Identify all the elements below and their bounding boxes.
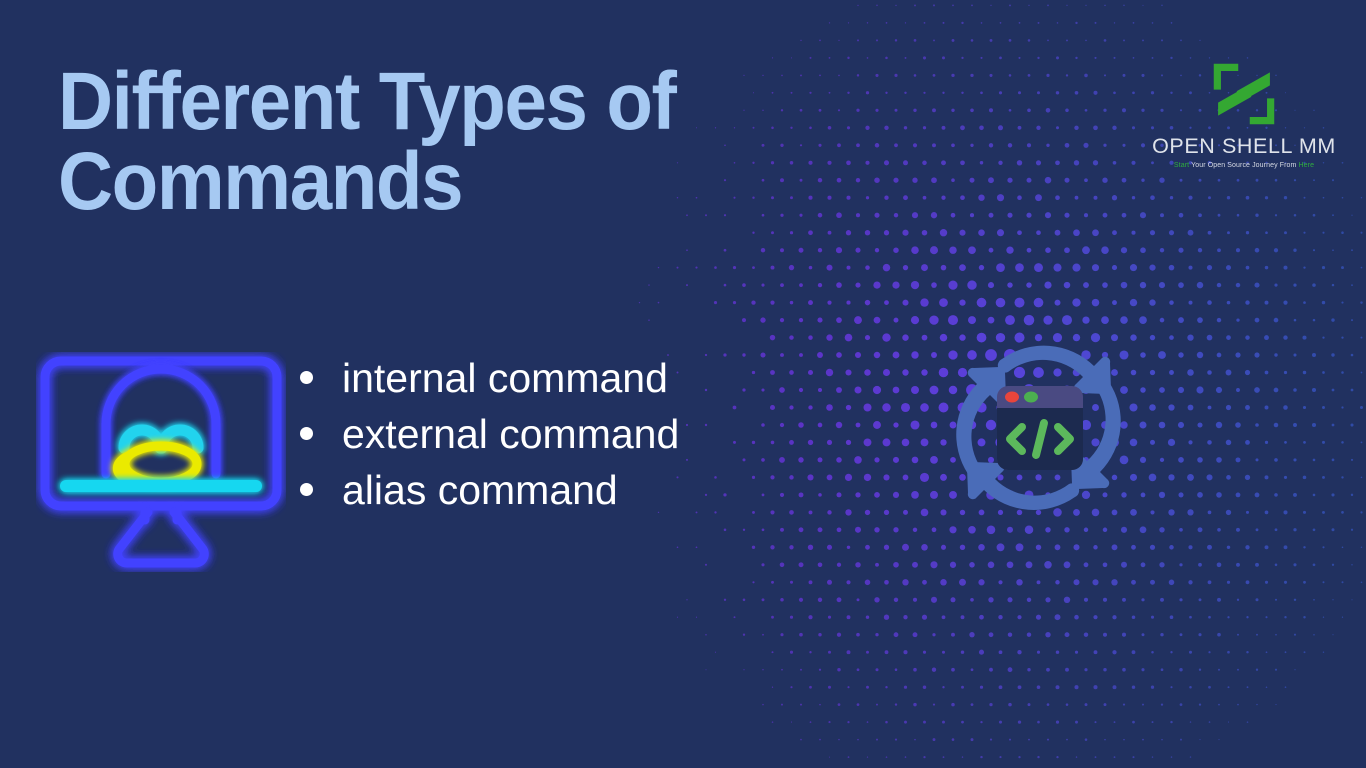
list-item: internal command (300, 358, 679, 414)
code-window-refresh-icon (944, 338, 1134, 518)
slide-canvas: Different Types of Commands internal com… (0, 0, 1366, 768)
brand-logo-block: OPEN SHELL MM Start Your Open Source Jou… (1144, 58, 1344, 169)
bullet-marker-icon (300, 371, 313, 384)
page-title: Different Types of Commands (58, 62, 938, 221)
list-item-label: alias command (342, 470, 618, 511)
brand-tagline-part-start: Start (1174, 162, 1189, 169)
bullet-marker-icon (300, 483, 313, 496)
page-title-line-1: Different Types of (58, 62, 876, 142)
list-item: external command (300, 414, 679, 470)
list-item: alias command (300, 470, 679, 526)
brand-name: OPEN SHELL MM (1144, 136, 1344, 158)
brand-tagline: Start Your Open Source Journey From Here (1144, 162, 1344, 169)
page-title-line-2: Commands (58, 142, 876, 222)
linux-penguin-monitor-icon (36, 352, 286, 572)
brand-tagline-part-middle: Your Open Source Journey From (1189, 162, 1298, 169)
bullet-marker-icon (300, 427, 313, 440)
list-item-label: external command (342, 414, 679, 455)
brand-tagline-part-here: Here (1299, 162, 1315, 169)
command-type-list: internal command external command alias … (300, 358, 679, 526)
open-shell-s-logo-icon (1201, 58, 1287, 130)
list-item-label: internal command (342, 358, 668, 399)
